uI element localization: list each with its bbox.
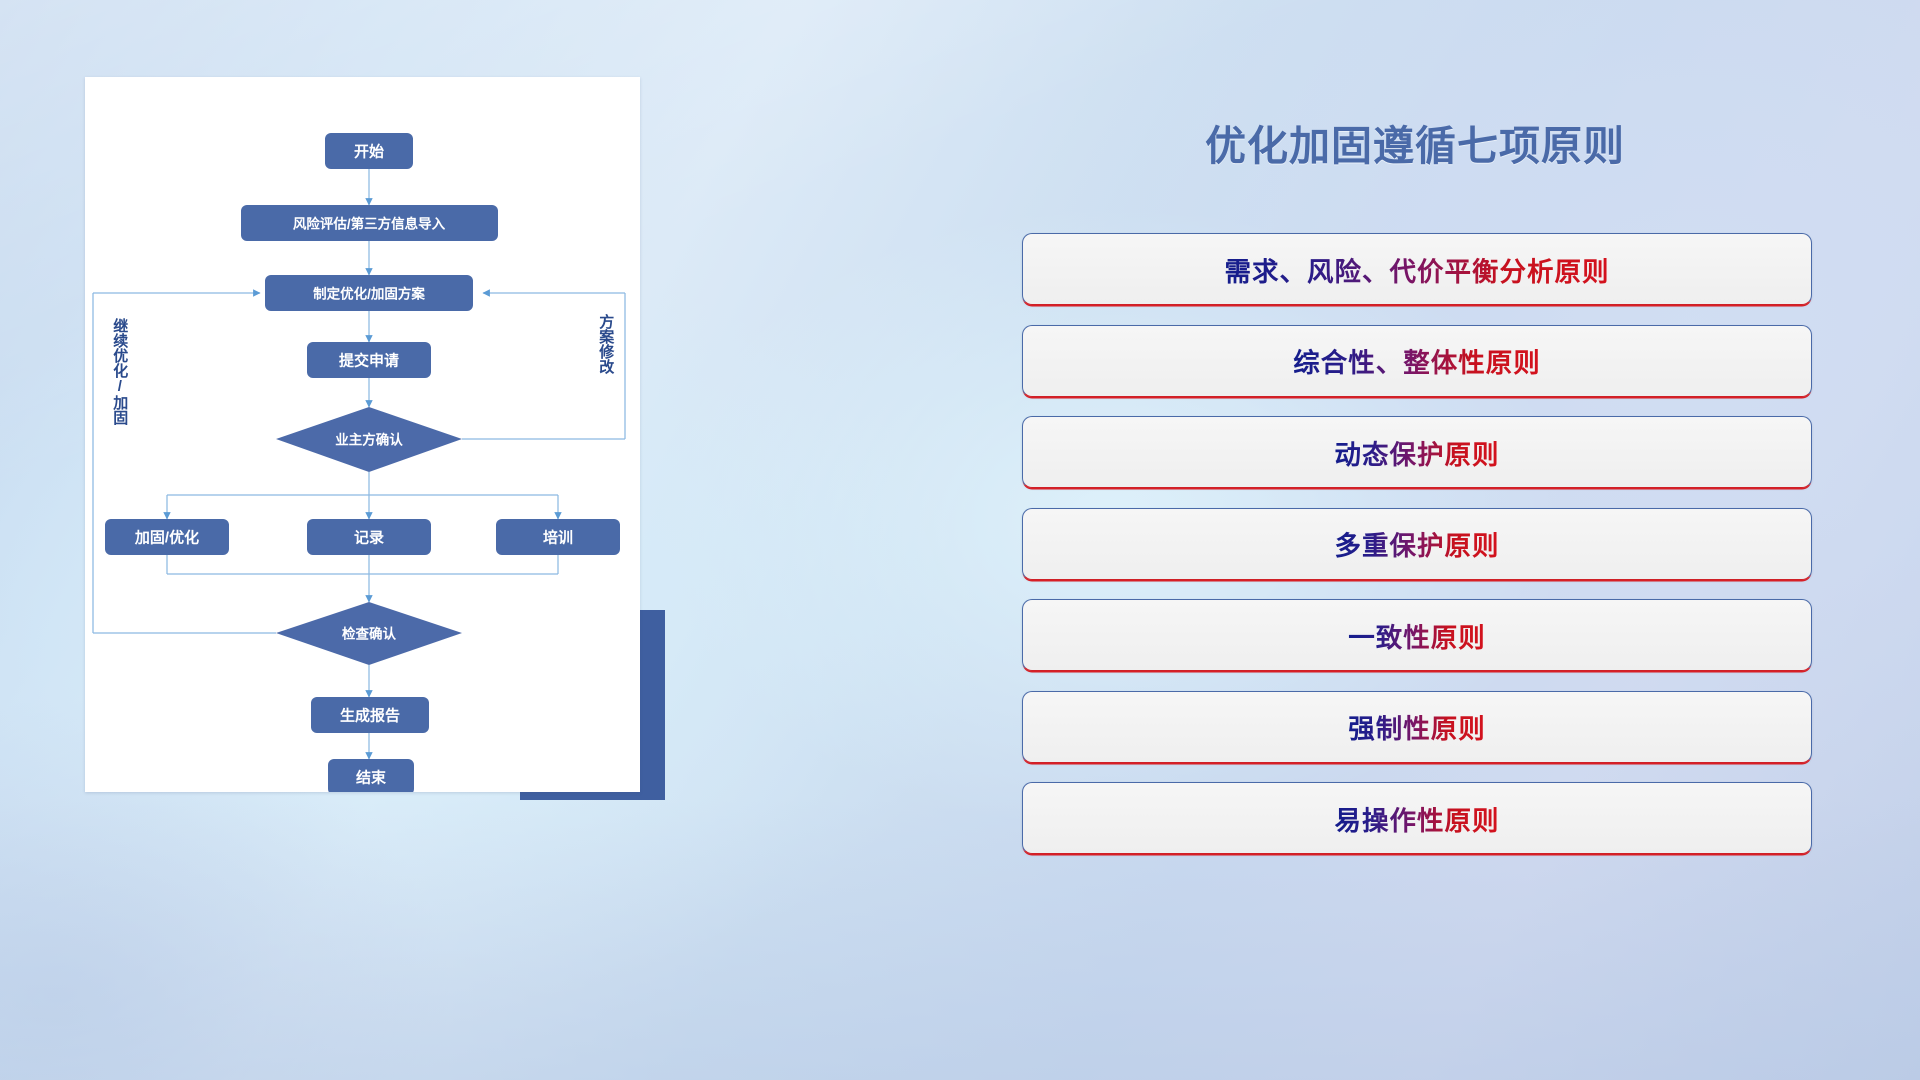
flow-node-plan[interactable]: 制定优化/加固方案 (265, 275, 473, 311)
flow-node-risk-assessment-label: 风险评估/第三方信息导入 (293, 216, 446, 232)
flowchart-diagram: 开始 风险评估/第三方信息导入 制定优化/加固方案 提交申请 业主方确认 加固/… (85, 77, 640, 792)
flow-node-end[interactable]: 结束 (328, 759, 414, 792)
principles-list: 需求、风险、代价平衡分析原则 综合性、整体性原则 动态保护原则 多重保护原则 一… (1022, 233, 1812, 854)
principle-label-1: 需求、风险、代价平衡分析原则 (1225, 250, 1610, 289)
flow-node-report-label: 生成报告 (340, 707, 400, 725)
flow-edge-label-right: 方案修改 (598, 314, 613, 374)
flow-node-plan-label: 制定优化/加固方案 (313, 286, 425, 302)
principle-card-4[interactable]: 多重保护原则 (1022, 508, 1812, 580)
flow-node-reinforce-label: 加固/优化 (134, 529, 199, 547)
flow-node-report[interactable]: 生成报告 (311, 697, 429, 733)
flow-decision-owner-confirm[interactable]: 业主方确认 (276, 407, 462, 472)
flow-node-reinforce[interactable]: 加固/优化 (105, 519, 229, 555)
principle-label-7: 易操作性原则 (1335, 799, 1500, 838)
principle-label-3: 动态保护原则 (1335, 433, 1500, 472)
flow-decision-owner-confirm-label: 业主方确认 (335, 432, 403, 448)
flow-node-record-label: 记录 (354, 530, 384, 547)
principle-card-7[interactable]: 易操作性原则 (1022, 782, 1812, 854)
principle-card-6[interactable]: 强制性原则 (1022, 691, 1812, 763)
principle-card-2[interactable]: 综合性、整体性原则 (1022, 325, 1812, 397)
flow-node-submit-label: 提交申请 (339, 352, 399, 370)
flowchart-card: 开始 风险评估/第三方信息导入 制定优化/加固方案 提交申请 业主方确认 加固/… (85, 77, 640, 792)
flow-node-risk-assessment[interactable]: 风险评估/第三方信息导入 (241, 205, 498, 241)
principle-label-4: 多重保护原则 (1335, 524, 1500, 563)
principle-label-6: 强制性原则 (1348, 707, 1486, 746)
principle-card-3[interactable]: 动态保护原则 (1022, 416, 1812, 488)
flow-node-start[interactable]: 开始 (325, 133, 413, 169)
flow-edge-label-left: 继续优化/加固 (112, 318, 127, 425)
flow-node-start-label: 开始 (354, 143, 384, 161)
flow-node-record[interactable]: 记录 (307, 519, 431, 555)
flow-node-end-label: 结束 (356, 769, 387, 787)
principle-label-5: 一致性原则 (1348, 616, 1486, 655)
principle-label-2: 综合性、整体性原则 (1293, 341, 1541, 380)
flow-node-submit[interactable]: 提交申请 (307, 342, 431, 378)
principle-card-1[interactable]: 需求、风险、代价平衡分析原则 (1022, 233, 1812, 305)
flow-decision-check-confirm[interactable]: 检查确认 (276, 602, 462, 665)
flow-node-training-label: 培训 (543, 529, 573, 547)
flow-decision-check-confirm-label: 检查确认 (342, 626, 396, 642)
principle-card-5[interactable]: 一致性原则 (1022, 599, 1812, 671)
panel-title: 优化加固遵循七项原则 (1020, 112, 1810, 172)
flow-node-training[interactable]: 培训 (496, 519, 620, 555)
